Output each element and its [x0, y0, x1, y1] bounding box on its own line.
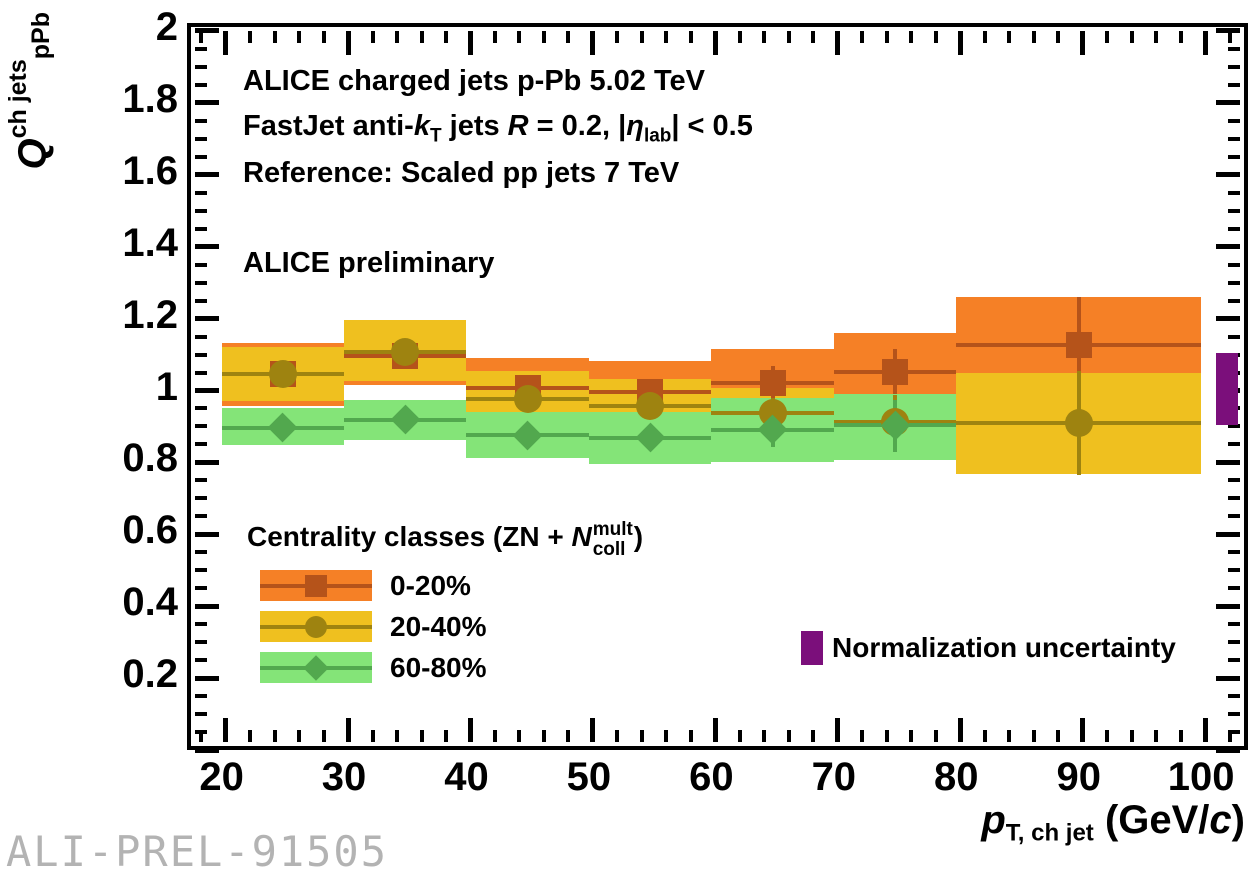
y-tick	[1228, 209, 1240, 213]
x-axis-title-subscript: T, ch jet	[1006, 820, 1094, 847]
y-tick	[195, 244, 219, 249]
legend-title-a: Centrality classes (ZN +	[247, 521, 571, 552]
marker-circle	[1065, 409, 1093, 437]
x-tick	[468, 718, 473, 742]
y-tick	[1228, 514, 1240, 518]
annotation-line-2-d: | < 0.5	[671, 110, 752, 142]
annotation-block: ALICE charged jets p-Pb 5.02 TeV FastJet…	[243, 62, 753, 199]
legend-title-b: )	[634, 521, 643, 552]
y-tick	[1228, 478, 1240, 482]
x-axis-unit-c: c	[1209, 798, 1231, 842]
x-tick	[885, 31, 889, 43]
x-tick	[395, 730, 399, 742]
x-tick	[223, 31, 228, 55]
y-tick-label: 0.8	[122, 438, 178, 478]
y-tick-label: 1.4	[122, 223, 178, 263]
x-tick	[1130, 730, 1134, 742]
legend-label: 60-80%	[390, 652, 487, 684]
annotation-line-2-b: jets	[442, 110, 508, 142]
y-tick	[1228, 550, 1240, 554]
y-tick	[1228, 712, 1240, 716]
x-tick	[664, 730, 668, 742]
y-tick	[195, 83, 207, 87]
chart-root: Qch jetspPb 0.20.40.60.811.21.41.61.82 2…	[0, 0, 1257, 885]
normalization-uncertainty-label: Normalization uncertainty	[832, 632, 1176, 664]
y-tick	[1228, 47, 1240, 51]
y-tick	[195, 119, 207, 123]
x-tick	[689, 31, 693, 43]
y-tick	[195, 227, 207, 231]
x-tick	[590, 718, 595, 742]
y-tick	[195, 281, 207, 285]
x-tick	[762, 730, 766, 742]
x-tick	[1130, 31, 1134, 43]
x-tick	[346, 718, 351, 742]
y-axis-tick-labels: 0.20.40.60.811.21.41.61.82	[0, 23, 178, 750]
x-tick	[787, 31, 791, 43]
x-tick	[297, 31, 301, 43]
x-tick	[468, 31, 473, 55]
legend-rows: 0-20%20-40%60-80%	[247, 565, 643, 688]
annotation-R-symbol: R	[508, 110, 529, 142]
x-tick-label: 90	[1056, 757, 1101, 797]
x-tick-label: 60	[689, 757, 734, 797]
legend-marker-square	[305, 575, 327, 597]
legend-marker-circle	[305, 616, 327, 638]
x-tick	[1007, 31, 1011, 43]
y-tick	[1216, 748, 1240, 753]
y-tick	[195, 514, 207, 518]
x-tick	[860, 730, 864, 742]
y-tick	[1228, 191, 1240, 195]
x-tick	[297, 730, 301, 742]
x-tick	[1032, 31, 1036, 43]
y-tick	[195, 406, 207, 410]
annotation-eta-symbol: η	[626, 110, 644, 142]
y-tick	[195, 694, 207, 698]
y-tick-label: 1.8	[122, 79, 178, 119]
x-tick	[223, 718, 228, 742]
y-tick	[1228, 442, 1240, 446]
y-tick	[1216, 316, 1240, 321]
x-tick	[517, 730, 521, 742]
x-tick	[835, 718, 840, 742]
x-tick	[542, 31, 546, 43]
x-tick	[566, 730, 570, 742]
preliminary-label: ALICE preliminary	[243, 247, 494, 280]
y-tick	[195, 442, 207, 446]
y-tick-label: 0.6	[122, 510, 178, 550]
x-tick-label: 100	[1168, 757, 1235, 797]
legend: Centrality classes (ZN + Nmultcoll) 0-20…	[247, 521, 643, 688]
y-tick	[1228, 694, 1240, 698]
x-tick-label: 70	[812, 757, 857, 797]
y-tick	[1216, 532, 1240, 537]
x-tick	[640, 31, 644, 43]
x-tick	[248, 730, 252, 742]
y-tick	[195, 155, 207, 159]
x-tick	[689, 730, 693, 742]
legend-item-60-80[interactable]: 60-80%	[247, 647, 643, 688]
marker-circle	[514, 385, 542, 413]
x-axis-unit-close: )	[1232, 798, 1245, 842]
x-tick	[615, 730, 619, 742]
x-tick	[493, 730, 497, 742]
x-tick	[885, 730, 889, 742]
y-tick	[195, 712, 207, 716]
x-tick	[590, 31, 595, 55]
x-tick	[664, 31, 668, 43]
legend-label: 0-20%	[390, 570, 471, 602]
x-tick	[909, 730, 913, 742]
y-tick	[195, 478, 207, 482]
y-tick-label: 1.6	[122, 151, 178, 191]
x-tick-label: 30	[322, 757, 367, 797]
legend-key	[260, 570, 372, 601]
x-tick	[1154, 730, 1158, 742]
x-tick	[395, 31, 399, 43]
y-tick	[1228, 568, 1240, 572]
y-tick-label: 1.2	[122, 295, 178, 335]
y-tick	[1216, 604, 1240, 609]
y-tick	[1228, 622, 1240, 626]
y-tick	[195, 47, 207, 51]
y-tick	[195, 460, 219, 465]
annotation-line-2-a: FastJet anti-	[243, 110, 414, 142]
y-tick	[1228, 119, 1240, 123]
y-tick	[195, 371, 207, 375]
y-tick	[195, 550, 207, 554]
x-tick	[1032, 730, 1036, 742]
x-tick	[983, 730, 987, 742]
x-tick	[1007, 730, 1011, 742]
x-tick	[860, 31, 864, 43]
y-tick	[195, 172, 219, 177]
y-tick	[1228, 586, 1240, 590]
x-tick	[762, 31, 766, 43]
y-tick	[1216, 676, 1240, 681]
x-tick	[811, 31, 815, 43]
x-tick	[322, 730, 326, 742]
x-tick-label: 80	[934, 757, 979, 797]
x-tick	[371, 31, 375, 43]
legend-title-subscript: coll	[593, 539, 626, 561]
legend-title: Centrality classes (ZN + Nmultcoll)	[247, 521, 643, 553]
x-tick	[1228, 730, 1232, 742]
x-axis-unit-open: (GeV/	[1105, 798, 1209, 842]
x-tick	[909, 31, 913, 43]
x-tick	[640, 730, 644, 742]
y-tick	[195, 640, 207, 644]
annotation-kt-subscript: T	[430, 125, 442, 146]
marker-circle	[269, 360, 297, 388]
y-tick	[195, 353, 207, 357]
y-tick	[195, 65, 207, 69]
x-tick	[542, 730, 546, 742]
y-tick	[195, 658, 207, 662]
y-tick	[195, 209, 207, 213]
legend-title-superscript: mult	[593, 519, 633, 541]
legend-key	[260, 611, 372, 642]
x-tick-label: 20	[199, 757, 244, 797]
y-tick	[1228, 496, 1240, 500]
x-tick	[273, 730, 277, 742]
y-tick	[1228, 281, 1240, 285]
x-tick	[371, 730, 375, 742]
x-tick	[1080, 718, 1085, 742]
x-tick	[1056, 730, 1060, 742]
y-tick	[1228, 65, 1240, 69]
y-tick	[1228, 335, 1240, 339]
x-tick	[738, 31, 742, 43]
x-tick	[1056, 31, 1060, 43]
annotation-line-1: ALICE charged jets p-Pb 5.02 TeV	[243, 62, 753, 101]
legend-item-20-40[interactable]: 20-40%	[247, 606, 643, 647]
x-tick	[1105, 730, 1109, 742]
y-tick-label: 0.2	[122, 654, 178, 694]
y-tick	[1228, 424, 1240, 428]
x-tick	[958, 31, 963, 55]
marker-square	[882, 359, 908, 385]
annotation-line-2-c: = 0.2, |	[529, 110, 627, 142]
x-tick	[346, 31, 351, 55]
annotation-line-3: Reference: Scaled pp jets 7 TeV	[243, 154, 753, 193]
y-tick	[195, 137, 207, 141]
y-tick	[1216, 460, 1240, 465]
x-tick	[1154, 31, 1158, 43]
normalization-uncertainty-swatch	[801, 631, 823, 665]
y-tick	[1228, 658, 1240, 662]
y-tick-label: 1	[156, 367, 178, 407]
y-tick	[195, 191, 207, 195]
y-tick	[195, 676, 219, 681]
x-tick	[787, 730, 791, 742]
y-tick	[195, 622, 207, 626]
marker-square	[760, 370, 786, 396]
x-tick	[444, 31, 448, 43]
y-tick	[1228, 263, 1240, 267]
x-tick	[493, 31, 497, 43]
y-tick	[195, 568, 207, 572]
y-tick	[1228, 137, 1240, 141]
annotation-eta-subscript: lab	[644, 125, 671, 146]
x-tick	[713, 31, 718, 55]
y-tick	[195, 316, 219, 321]
x-tick	[199, 730, 203, 742]
x-tick	[420, 730, 424, 742]
y-tick	[1228, 155, 1240, 159]
y-tick-label: 0.4	[122, 582, 178, 622]
y-tick	[195, 496, 207, 500]
x-tick	[1179, 730, 1183, 742]
y-tick	[1216, 244, 1240, 249]
y-tick	[1228, 227, 1240, 231]
y-tick	[195, 748, 219, 753]
x-tick	[811, 730, 815, 742]
y-tick	[195, 604, 219, 609]
annotation-kt-symbol: k	[414, 110, 430, 142]
x-tick	[615, 31, 619, 43]
x-tick	[934, 31, 938, 43]
y-tick	[195, 335, 207, 339]
x-tick	[1228, 31, 1232, 43]
x-tick	[322, 31, 326, 43]
y-tick	[195, 532, 219, 537]
x-tick	[738, 730, 742, 742]
annotation-line-2: FastJet anti-kT jets R = 0.2, |ηlab| < 0…	[243, 107, 753, 149]
normalization-uncertainty-legend: Normalization uncertainty	[801, 631, 1176, 665]
y-tick	[1216, 172, 1240, 177]
x-tick	[273, 31, 277, 43]
x-tick	[420, 31, 424, 43]
x-tick	[566, 31, 570, 43]
x-tick	[1179, 31, 1183, 43]
y-tick	[195, 100, 219, 105]
watermark: ALI-PREL-91505	[6, 827, 388, 876]
marker-square	[1066, 332, 1092, 358]
y-tick	[1216, 100, 1240, 105]
y-tick	[195, 299, 207, 303]
x-tick	[1203, 31, 1208, 55]
x-tick	[713, 718, 718, 742]
y-tick	[195, 388, 219, 393]
x-axis-tick-labels: 2030405060708090100	[187, 757, 1248, 805]
x-tick	[1080, 31, 1085, 55]
legend-key	[260, 652, 372, 683]
x-tick	[835, 31, 840, 55]
y-tick	[195, 586, 207, 590]
x-tick-label: 40	[444, 757, 489, 797]
x-axis-title-symbol: p	[981, 798, 1005, 842]
y-tick	[1228, 640, 1240, 644]
legend-label: 20-40%	[390, 611, 487, 643]
x-tick-label: 50	[567, 757, 612, 797]
x-tick	[1105, 31, 1109, 43]
y-tick	[195, 263, 207, 267]
y-tick	[1228, 83, 1240, 87]
legend-item-0-20[interactable]: 0-20%	[247, 565, 643, 606]
y-tick-label: 2	[156, 7, 178, 47]
x-tick	[444, 730, 448, 742]
x-tick	[958, 718, 963, 742]
normalization-uncertainty-bar	[1216, 353, 1238, 425]
x-tick	[983, 31, 987, 43]
x-tick	[1203, 718, 1208, 742]
x-tick	[517, 31, 521, 43]
x-tick	[248, 31, 252, 43]
x-tick	[934, 730, 938, 742]
x-axis-title: pT, ch jet (GeV/c)	[981, 800, 1245, 846]
y-tick	[195, 424, 207, 428]
y-tick	[1228, 299, 1240, 303]
x-tick	[199, 31, 203, 43]
legend-title-N: N	[571, 521, 591, 552]
